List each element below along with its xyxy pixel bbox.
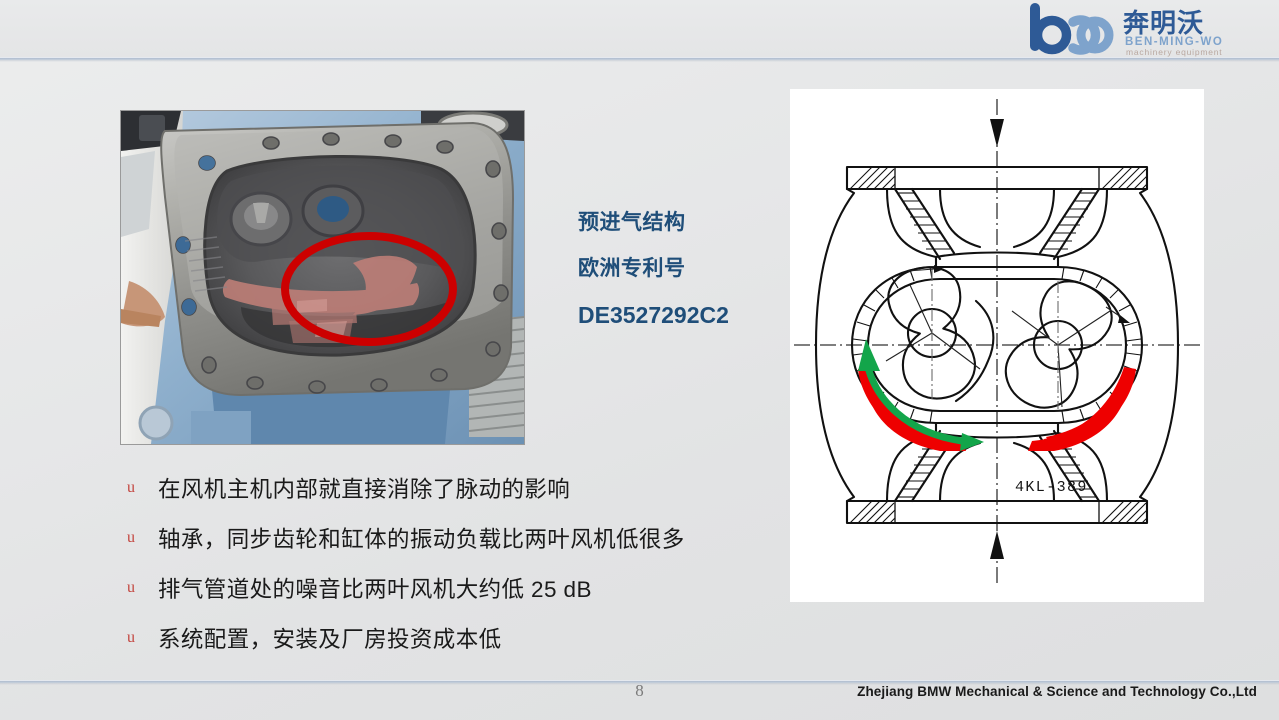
bullet-text: 排气管道处的噪音比两叶风机大约低 25 dB <box>158 572 592 604</box>
logo-chinese-name: 奔明沃 <box>1123 8 1204 38</box>
list-item: u 在风机主机内部就直接消除了脉动的影响 <box>120 463 780 513</box>
title-line-2: 欧洲专利号 <box>578 246 793 292</box>
bullet-text: 系统配置，安装及厂房投资成本低 <box>158 622 502 654</box>
company-logo: 奔明沃 BEN-MING-WO machinery equipment <box>1019 2 1269 58</box>
bullet-text: 轴承，同步齿轮和缸体的振动负载比两叶风机低很多 <box>158 522 685 554</box>
bullet-marker-icon: u <box>120 629 158 647</box>
bullet-text: 在风机主机内部就直接消除了脉动的影响 <box>158 472 570 504</box>
logo-tagline: machinery equipment <box>1126 47 1222 57</box>
bullet-marker-icon: u <box>120 579 158 597</box>
drawing-number-label: 4KL-389 <box>1015 479 1088 496</box>
bullet-marker-icon: u <box>120 529 158 547</box>
title-line-1: 预进气结构 <box>578 200 793 246</box>
logo-monogram-icon <box>1035 8 1109 50</box>
diagram-svg: 4KL-389 <box>790 89 1204 602</box>
bullet-marker-icon: u <box>120 479 158 497</box>
patent-number: DE3527292C2 <box>578 292 793 338</box>
photo-raster <box>121 111 524 444</box>
patent-title-block: 预进气结构 欧洲专利号 DE3527292C2 <box>578 200 793 338</box>
blower-casing-photo <box>120 110 525 445</box>
blower-cross-section-diagram: 4KL-389 <box>790 89 1204 602</box>
logo-graphic: 奔明沃 BEN-MING-WO machinery equipment <box>1019 2 1269 58</box>
list-item: u 轴承，同步齿轮和缸体的振动负载比两叶风机低很多 <box>120 513 780 563</box>
list-item: u 排气管道处的噪音比两叶风机大约低 25 dB <box>120 563 780 613</box>
header-divider-shadow <box>0 60 1279 62</box>
list-item: u 系统配置，安装及厂房投资成本低 <box>120 613 780 663</box>
footer-company-name: Zhejiang BMW Mechanical & Science and Te… <box>857 684 1257 699</box>
bullet-list: u 在风机主机内部就直接消除了脉动的影响 u 轴承，同步齿轮和缸体的振动负载比两… <box>120 463 780 663</box>
slide-canvas: 奔明沃 BEN-MING-WO machinery equipment <box>0 0 1279 720</box>
